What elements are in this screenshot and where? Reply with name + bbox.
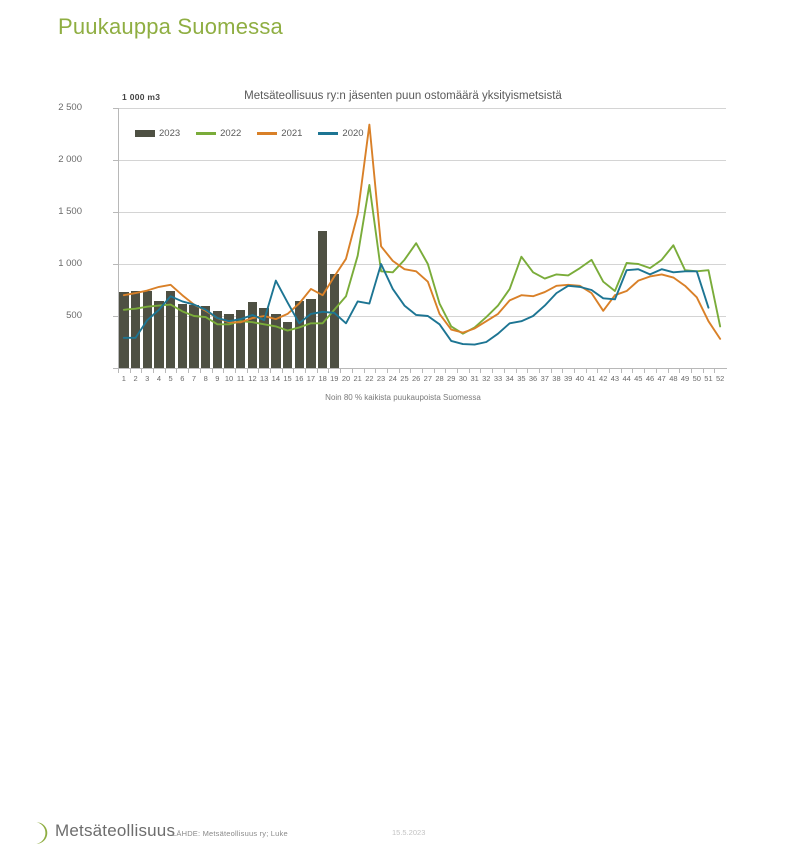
- x-axis-tick: [527, 369, 528, 373]
- x-axis-tick: [469, 369, 470, 373]
- x-axis-tick: [644, 369, 645, 373]
- x-axis-tick: [422, 369, 423, 373]
- metsateollisuus-logo-icon: [22, 820, 48, 846]
- x-axis-tick: [176, 369, 177, 373]
- x-axis-tick: [457, 369, 458, 373]
- x-axis-tick: [562, 369, 563, 373]
- x-axis-tick: [364, 369, 365, 373]
- legend-item-2022[interactable]: 2022: [196, 128, 241, 139]
- x-axis-tick: [656, 369, 657, 373]
- x-axis-tick: [703, 369, 704, 373]
- x-axis-tick: [165, 369, 166, 373]
- x-axis-tick: [130, 369, 131, 373]
- x-axis-tick: [352, 369, 353, 373]
- footer: Metsäteollisuus LÄHDE: Metsäteollisuus r…: [0, 408, 790, 466]
- x-axis-tick: [551, 369, 552, 373]
- legend-swatch-bar-icon: [135, 130, 155, 137]
- plot-area: [118, 108, 726, 368]
- x-axis-tick: [200, 369, 201, 373]
- y-axis-tick: [113, 316, 118, 317]
- y-axis-tick: [113, 212, 118, 213]
- date-stamp: 15.5.2023: [392, 828, 425, 837]
- x-axis-label: 52: [712, 374, 728, 383]
- x-axis-tick: [141, 369, 142, 373]
- y-axis: [118, 108, 119, 369]
- legend-label: 2022: [220, 128, 241, 139]
- x-axis-tick: [516, 369, 517, 373]
- x-axis-tick: [434, 369, 435, 373]
- legend-item-2020[interactable]: 2020: [318, 128, 363, 139]
- x-axis-tick: [632, 369, 633, 373]
- x-axis-tick: [609, 369, 610, 373]
- x-axis-tick: [480, 369, 481, 373]
- legend-swatch-line-icon: [318, 132, 338, 135]
- chart-title: Metsäteollisuus ry:n jäsenten puun ostom…: [78, 90, 728, 102]
- legend-item-2021[interactable]: 2021: [257, 128, 302, 139]
- x-axis-tick: [282, 369, 283, 373]
- y-axis-tick: [113, 108, 118, 109]
- x-axis-tick: [597, 369, 598, 373]
- x-axis-tick: [539, 369, 540, 373]
- x-axis-tick: [328, 369, 329, 373]
- x-axis-tick: [270, 369, 271, 373]
- line-2021: [124, 125, 720, 339]
- y-axis-tick: [113, 160, 118, 161]
- x-axis-tick: [153, 369, 154, 373]
- legend-label: 2020: [342, 128, 363, 139]
- chart-container: 1 000 m3 Metsäteollisuus ry:n jäsenten p…: [78, 88, 728, 388]
- chart-legend: 2023202220212020: [135, 128, 364, 139]
- legend-swatch-line-icon: [196, 132, 216, 135]
- x-axis-tick: [212, 369, 213, 373]
- x-axis-tick: [258, 369, 259, 373]
- y-axis-label: 500: [22, 310, 82, 321]
- x-axis-tick: [387, 369, 388, 373]
- x-axis-tick: [340, 369, 341, 373]
- logo-wordmark: Metsäteollisuus: [55, 821, 175, 841]
- y-axis-tick: [113, 264, 118, 265]
- x-axis-tick: [574, 369, 575, 373]
- x-axis-tick: [399, 369, 400, 373]
- x-axis-tick: [691, 369, 692, 373]
- page-title: Puukauppa Suomessa: [58, 14, 283, 40]
- y-axis-label: 2 500: [22, 102, 82, 113]
- line-2022: [124, 185, 720, 334]
- y-axis-label: 2 000: [22, 154, 82, 165]
- legend-label: 2023: [159, 128, 180, 139]
- x-axis-tick: [188, 369, 189, 373]
- x-axis-tick: [586, 369, 587, 373]
- x-axis-tick: [679, 369, 680, 373]
- legend-swatch-line-icon: [257, 132, 277, 135]
- x-axis-tick: [118, 369, 119, 373]
- slide-canvas: Puukauppa Suomessa 1 000 m3 Metsäteollis…: [0, 0, 790, 466]
- chart-footnote: Noin 80 % kaikista puukaupoista Suomessa: [78, 393, 728, 402]
- line-series-layer: [118, 108, 726, 368]
- x-axis-tick: [235, 369, 236, 373]
- x-axis-tick: [375, 369, 376, 373]
- source-note: LÄHDE: Metsäteollisuus ry; Luke: [172, 829, 288, 838]
- x-axis-tick: [223, 369, 224, 373]
- x-axis-tick: [247, 369, 248, 373]
- x-axis-tick: [668, 369, 669, 373]
- x-axis-tick: [621, 369, 622, 373]
- legend-item-2023[interactable]: 2023: [135, 128, 180, 139]
- x-axis-tick: [410, 369, 411, 373]
- x-axis-tick: [714, 369, 715, 373]
- x-axis-tick: [504, 369, 505, 373]
- x-axis-tick: [492, 369, 493, 373]
- x-axis-tick: [445, 369, 446, 373]
- legend-label: 2021: [281, 128, 302, 139]
- x-axis-tick: [305, 369, 306, 373]
- x-axis-tick: [317, 369, 318, 373]
- x-axis-tick: [293, 369, 294, 373]
- y-axis-label: 1 500: [22, 206, 82, 217]
- y-axis-label: 1 000: [22, 258, 82, 269]
